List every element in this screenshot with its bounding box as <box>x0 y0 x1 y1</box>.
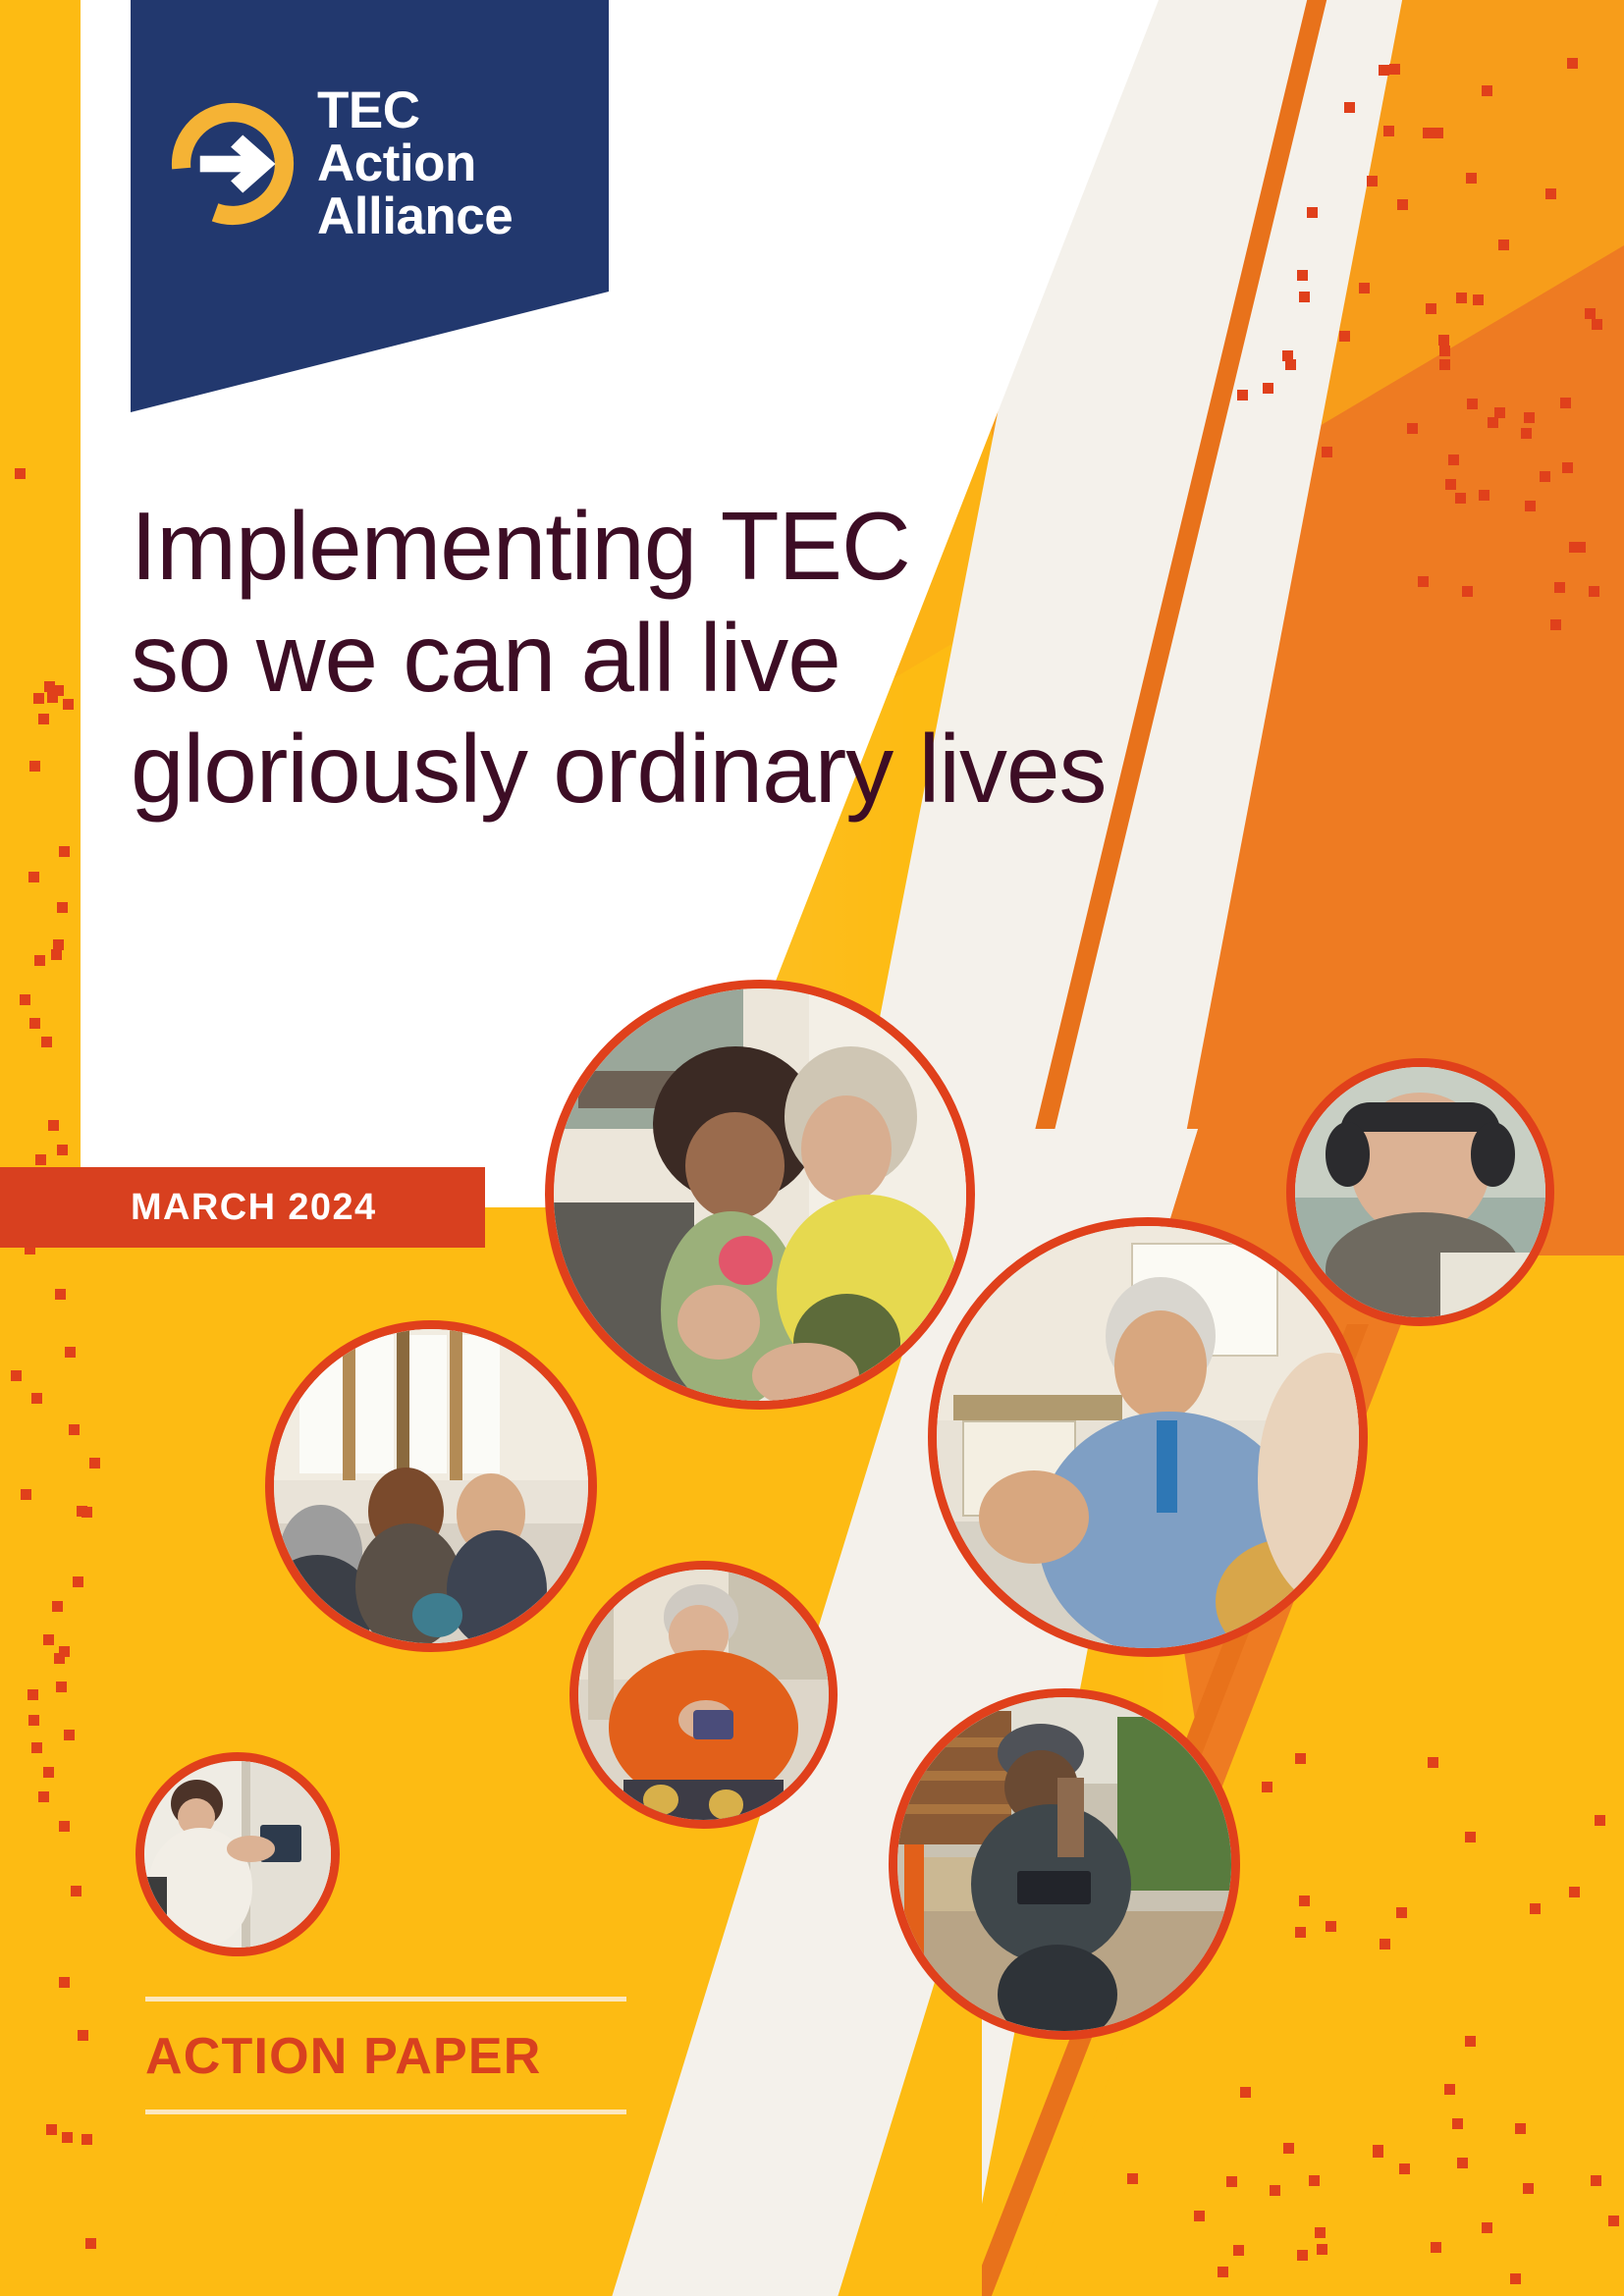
logo-line-3: Alliance <box>317 190 513 243</box>
decorative-dot <box>65 1347 76 1358</box>
decorative-dot <box>1439 346 1450 356</box>
decorative-dot <box>1270 2185 1280 2196</box>
decorative-dot <box>1283 2143 1294 2154</box>
decorative-dot <box>1608 2216 1619 2226</box>
decorative-dot <box>46 2124 57 2135</box>
decorative-dot <box>1344 102 1355 113</box>
decorative-dot <box>1510 2273 1521 2284</box>
decorative-dot <box>1226 2176 1237 2187</box>
decorative-dot <box>1359 283 1370 294</box>
decorative-dot <box>47 692 58 703</box>
decorative-dot <box>1545 188 1556 199</box>
photo-scene <box>578 1570 829 1820</box>
decorative-dot <box>38 1791 49 1802</box>
decorative-dot <box>1554 582 1565 593</box>
decorative-dot <box>1482 2222 1492 2233</box>
decorative-dot <box>1322 447 1332 457</box>
decorative-dot <box>1444 2084 1455 2095</box>
decorative-dot <box>1309 2175 1320 2186</box>
date-badge: MARCH 2024 <box>0 1167 485 1248</box>
decorative-dot <box>1295 1927 1306 1938</box>
page-title-line-1: Implementing TEC <box>131 491 1417 603</box>
decorative-dot <box>1465 1832 1476 1842</box>
photo-scene <box>144 1761 331 1948</box>
decorative-dot <box>15 468 26 479</box>
decorative-dot <box>1465 2036 1476 2047</box>
decorative-dot <box>1127 2173 1138 2184</box>
decorative-dot <box>35 1154 46 1165</box>
footer-rule-bottom <box>145 2109 626 2114</box>
decorative-dot <box>1569 1887 1580 1897</box>
decorative-dot <box>1263 383 1273 394</box>
photo-scene <box>274 1329 588 1643</box>
decorative-dot <box>69 1424 80 1435</box>
decorative-dot <box>1575 542 1586 553</box>
decorative-dot <box>43 1634 54 1645</box>
decorative-dot <box>1339 331 1350 342</box>
decorative-dot <box>1237 390 1248 400</box>
page-title: Implementing TEC so we can all live glor… <box>131 491 1417 826</box>
decorative-dot <box>1426 303 1436 314</box>
decorative-dot <box>1466 173 1477 184</box>
decorative-dot <box>1595 1815 1605 1826</box>
decorative-dot <box>59 1821 70 1832</box>
decorative-dot <box>31 1742 42 1753</box>
decorative-dot <box>81 1507 92 1518</box>
decorative-dot <box>1307 207 1318 218</box>
decorative-dot <box>1299 292 1310 302</box>
decorative-dot <box>48 1120 59 1131</box>
footer-label: ACTION PAPER <box>145 2002 626 2109</box>
decorative-dot <box>21 1489 31 1500</box>
decorative-dot <box>28 1715 39 1726</box>
decorative-dot <box>63 699 74 710</box>
decorative-dot <box>71 1886 81 1896</box>
decorative-dot <box>1396 1907 1407 1918</box>
decorative-dot <box>1592 319 1602 330</box>
date-badge-label: MARCH 2024 <box>131 1187 377 1229</box>
decorative-dot <box>59 846 70 857</box>
logo-lockup: TEC Action Alliance <box>170 84 513 243</box>
decorative-dot <box>1560 398 1571 408</box>
decorative-dot <box>1521 428 1532 439</box>
decorative-dot <box>11 1370 22 1381</box>
decorative-dot <box>1457 2158 1468 2168</box>
decorative-dot <box>1297 2250 1308 2261</box>
decorative-dot <box>56 1682 67 1692</box>
decorative-dot <box>1240 2087 1251 2098</box>
decorative-dot <box>1494 407 1505 418</box>
decorative-dot <box>1383 126 1394 136</box>
decorative-dot <box>62 2132 73 2143</box>
decorative-dot <box>1585 308 1596 319</box>
decorative-dot <box>33 693 44 704</box>
footer-block: ACTION PAPER <box>145 1997 626 2114</box>
decorative-dot <box>52 1601 63 1612</box>
decorative-dot <box>51 949 62 960</box>
page-title-line-2: so we can all live <box>131 603 1417 715</box>
decorative-dot <box>29 761 40 772</box>
decorative-dot <box>20 994 30 1005</box>
decorative-dot <box>43 1767 54 1778</box>
decorative-dot <box>53 939 64 950</box>
photo-scene <box>897 1697 1231 2031</box>
decorative-dot <box>1399 2163 1410 2174</box>
decorative-dot <box>1515 2123 1526 2134</box>
photo-woman-in-wheelchair-with-phone <box>569 1561 838 1829</box>
decorative-dot <box>59 1977 70 1988</box>
decorative-dot <box>1418 576 1429 587</box>
decorative-dot <box>1295 1753 1306 1764</box>
decorative-dot <box>1380 1939 1390 1949</box>
decorative-dot <box>29 1018 40 1029</box>
decorative-dot <box>1452 2118 1463 2129</box>
decorative-dot <box>1431 2242 1441 2253</box>
decorative-dot <box>1445 479 1456 490</box>
decorative-dot <box>1524 412 1535 423</box>
decorative-dot <box>1567 58 1578 69</box>
decorative-dot <box>1562 462 1573 473</box>
decorative-dot <box>27 1689 38 1700</box>
decorative-dot <box>1379 65 1389 76</box>
decorative-dot <box>1473 294 1484 305</box>
decorative-dot <box>1282 350 1293 361</box>
decorative-dot <box>1373 2145 1383 2156</box>
decorative-dot <box>55 1289 66 1300</box>
decorative-dot <box>1297 270 1308 281</box>
decorative-dot <box>31 1393 42 1404</box>
decorative-dot <box>1591 2175 1601 2186</box>
decorative-dot <box>1389 64 1400 75</box>
decorative-dot <box>89 1458 100 1468</box>
photo-care-worker-with-client <box>928 1217 1368 1657</box>
decorative-dot <box>78 2030 88 2041</box>
decorative-dot <box>1455 493 1466 504</box>
decorative-dot <box>57 902 68 913</box>
photo-three-people-talking <box>265 1320 597 1652</box>
decorative-dot <box>1407 423 1418 434</box>
decorative-dot <box>1523 2183 1534 2194</box>
decorative-dot <box>1550 619 1561 630</box>
decorative-dot <box>1367 176 1378 187</box>
decorative-dot <box>1479 490 1489 501</box>
decorative-dot <box>1433 128 1443 138</box>
decorative-dot <box>1488 417 1498 428</box>
decorative-dot <box>1530 1903 1541 1914</box>
decorative-dot <box>64 1730 75 1740</box>
decorative-dot <box>1233 2245 1244 2256</box>
decorative-dot <box>1262 1782 1272 1792</box>
decorative-dot <box>1498 240 1509 250</box>
decorative-dot <box>85 2238 96 2249</box>
decorative-dot <box>1397 199 1408 210</box>
decorative-dot <box>54 1653 65 1664</box>
decorative-dot <box>57 1145 68 1155</box>
decorative-dot <box>1540 471 1550 482</box>
decorative-dot <box>1589 586 1599 597</box>
decorative-dot <box>1448 454 1459 465</box>
decorative-dot <box>1194 2211 1205 2221</box>
decorative-dot <box>1299 1896 1310 1906</box>
decorative-dot <box>81 2134 92 2145</box>
photo-scene <box>554 988 966 1401</box>
decorative-dot <box>1317 2244 1327 2255</box>
cover-page: TEC Action Alliance Implementing TEC so … <box>0 0 1624 2296</box>
decorative-dot <box>73 1576 83 1587</box>
decorative-dot <box>1438 335 1449 346</box>
circular-arrow-icon <box>170 101 296 227</box>
decorative-dot <box>1482 85 1492 96</box>
decorative-dot <box>1218 2267 1228 2277</box>
decorative-dot <box>41 1037 52 1047</box>
page-title-line-3: gloriously ordinary lives <box>131 714 1417 826</box>
decorative-dot <box>1462 586 1473 597</box>
decorative-dot <box>1467 399 1478 409</box>
decorative-dot <box>1439 359 1450 370</box>
left-amber-strip <box>0 0 81 1207</box>
logo-line-2: Action <box>317 137 513 190</box>
decorative-dot <box>1525 501 1536 511</box>
decorative-dot <box>34 955 45 966</box>
decorative-dot <box>1456 293 1467 303</box>
logo-line-1: TEC <box>317 84 513 137</box>
photo-woman-at-door-panel <box>135 1752 340 1956</box>
decorative-dot <box>1326 1921 1336 1932</box>
photo-man-in-garden-with-tablet <box>889 1688 1240 2040</box>
logo-wordmark: TEC Action Alliance <box>317 84 513 243</box>
decorative-dot <box>38 714 49 724</box>
decorative-dot <box>28 872 39 882</box>
photo-scene <box>937 1226 1359 1648</box>
photo-child-and-older-woman-cooking <box>545 980 975 1410</box>
decorative-dot <box>1315 2227 1326 2238</box>
decorative-dot <box>1428 1757 1438 1768</box>
